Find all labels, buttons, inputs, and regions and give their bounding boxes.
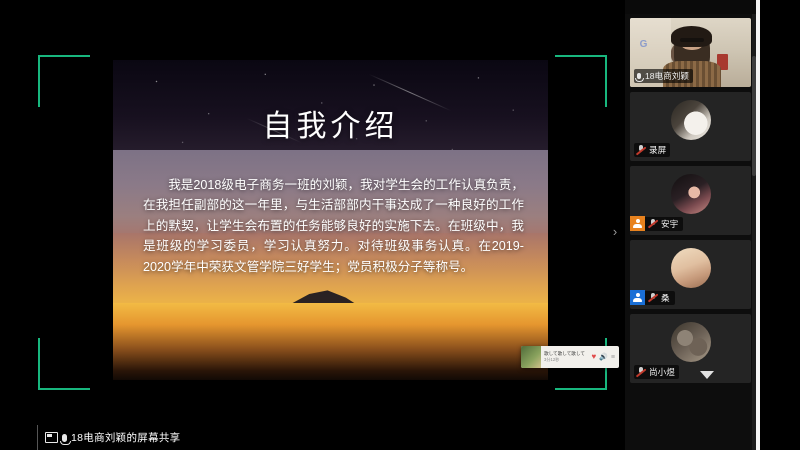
- avatar: [671, 322, 711, 362]
- participant-name: 尚小煜: [649, 366, 675, 378]
- share-status-label: 18电商刘颖的屏幕共享: [71, 430, 180, 445]
- track-subtitle: 3分12秒: [544, 357, 588, 363]
- panel-expand-chevron-right-icon[interactable]: ›: [608, 218, 622, 244]
- divider: [37, 425, 38, 450]
- participant-nametag: 18电商刘颖: [634, 69, 693, 83]
- decor-letter-icon: G: [640, 39, 648, 50]
- avatar: [671, 100, 711, 140]
- participant-name: 18电商刘颖: [645, 70, 689, 82]
- avatar: [671, 174, 711, 214]
- slide-city-lights: [113, 303, 548, 380]
- microphone-icon: [62, 434, 67, 442]
- microphone-muted-icon: [648, 293, 658, 303]
- participant-tile[interactable]: 录屏: [630, 92, 751, 161]
- microphone-muted-icon: [636, 145, 646, 155]
- participant-tile[interactable]: G 18电商刘颖: [630, 18, 751, 87]
- desktop-background: [760, 0, 800, 450]
- player-controls: ♥ 🔊 ≡: [591, 353, 619, 361]
- participant-tile[interactable]: 桑: [630, 240, 751, 309]
- participant-nametag: 录屏: [634, 143, 670, 157]
- nametag-body: 桑: [645, 291, 675, 305]
- person-hair: [671, 26, 712, 47]
- heart-icon[interactable]: ♥: [591, 353, 596, 361]
- participant-name: 录屏: [649, 144, 666, 156]
- participant-name: 桑: [661, 292, 670, 304]
- avatar: [671, 248, 711, 288]
- speaker-icon[interactable]: 🔊: [599, 354, 608, 361]
- sidebar-top-gap: [625, 0, 756, 14]
- playlist-icon[interactable]: ≡: [611, 354, 615, 361]
- shared-slide: 自我介绍 我是2018级电子商务一班的刘颖，我对学生会的工作认真负责，在我担任副…: [113, 60, 548, 380]
- chevron-down-icon[interactable]: [700, 371, 714, 379]
- glasses-icon: [680, 38, 704, 42]
- screen-share-stage: 自我介绍 我是2018级电子商务一班的刘颖，我对学生会的工作认真负责，在我担任副…: [0, 0, 625, 425]
- participant-name: 安宇: [661, 218, 678, 230]
- share-corner-bracket-top-right: [555, 55, 607, 107]
- share-corner-bracket-top-left: [38, 55, 90, 107]
- microphone-muted-icon: [636, 367, 646, 377]
- participant-tile[interactable]: 尚小煜: [630, 314, 751, 383]
- microphone-muted-icon: [648, 219, 658, 229]
- microphone-icon: [637, 73, 641, 79]
- screen-share-icon: [45, 432, 58, 443]
- participant-nametag: 桑: [630, 290, 675, 305]
- mini-music-player[interactable]: 歌して歌して歌して 3分12秒 ♥ 🔊 ≡: [521, 346, 619, 368]
- participant-tile[interactable]: 安宇: [630, 166, 751, 235]
- participant-nametag: 尚小煜: [634, 365, 679, 379]
- slide-body-text: 我是2018级电子商务一班的刘颖，我对学生会的工作认真负责，在我担任副部的这一年…: [143, 175, 524, 277]
- slide-title: 自我介绍: [113, 112, 548, 142]
- track-info: 歌して歌して歌して 3分12秒: [541, 351, 591, 363]
- participant-sidebar[interactable]: G 18电商刘颖 录屏: [625, 0, 756, 450]
- app-root: 自我介绍 我是2018级电子商务一班的刘颖，我对学生会的工作认真负责，在我担任副…: [0, 0, 800, 450]
- share-corner-bracket-bottom-left: [38, 338, 90, 390]
- host-badge-icon: [630, 216, 645, 231]
- participant-nametag: 安宇: [630, 216, 683, 231]
- share-status: 18电商刘颖的屏幕共享: [45, 425, 180, 450]
- nametag-body: 安宇: [645, 217, 683, 231]
- album-art-icon: [521, 346, 541, 368]
- cohost-badge-icon: [630, 290, 645, 305]
